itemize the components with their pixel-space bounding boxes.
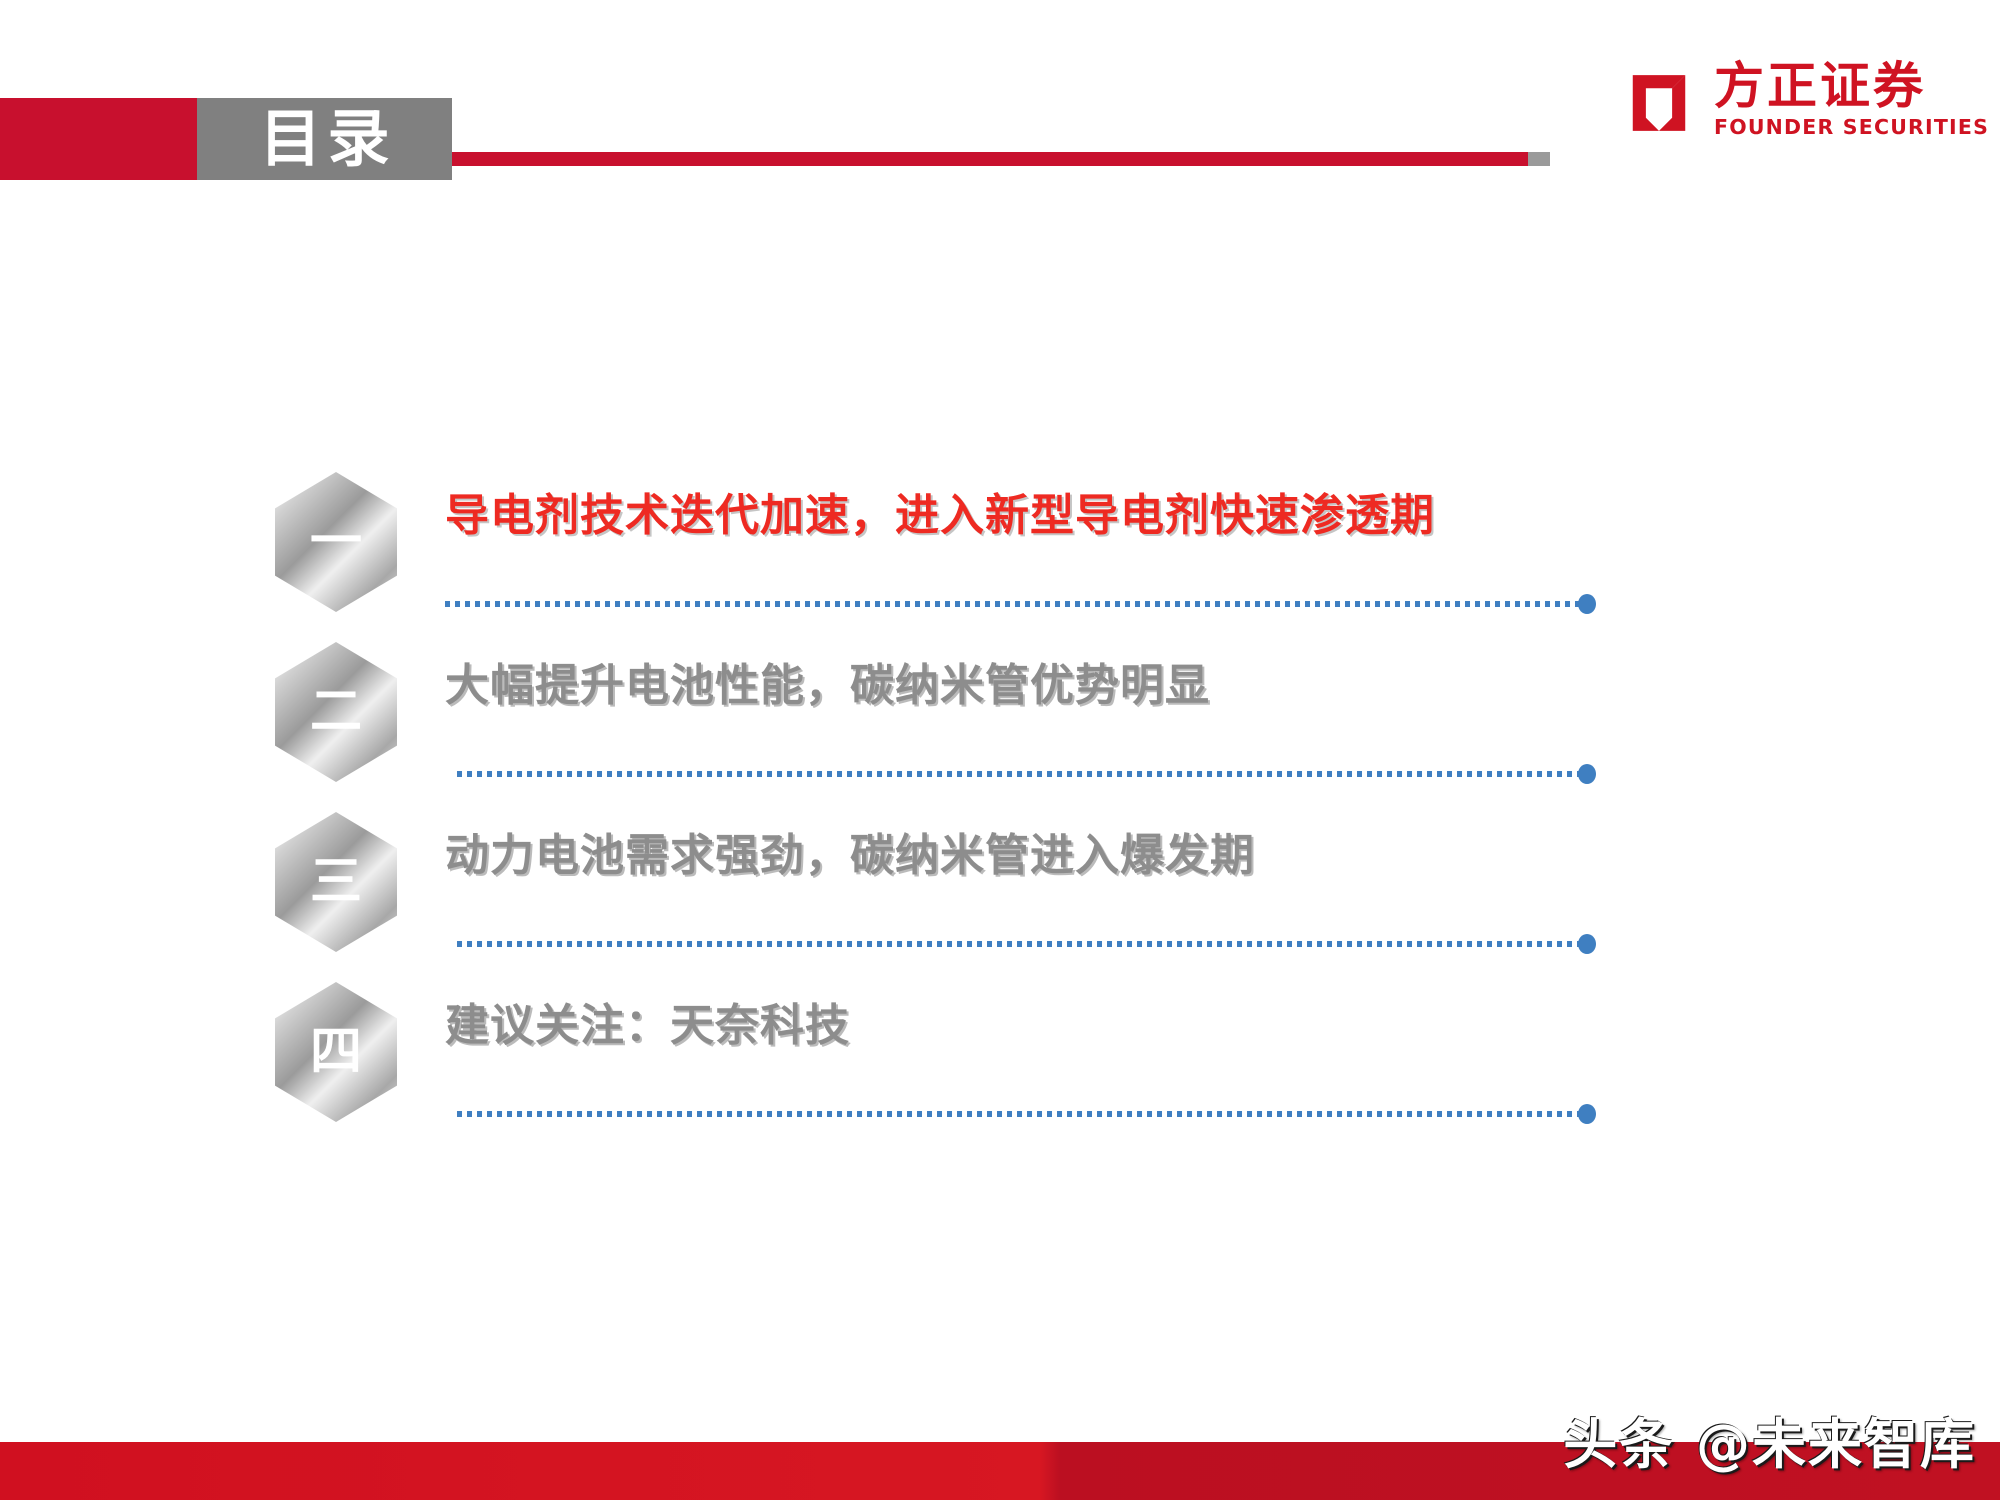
toc-connector-4 xyxy=(457,1110,1585,1118)
slide-root: 目录 方正证券 FOUNDER SECURITIES 一 导电剂技术迭代加速，进… xyxy=(0,0,2000,1500)
toc-number-badge-2: 二 xyxy=(275,642,397,782)
toc-item-1[interactable]: 一 导电剂技术迭代加速，进入新型导电剂快速渗透期 xyxy=(275,466,1705,636)
toc-item-label-3: 动力电池需求强劲，碳纳米管进入爆发期 xyxy=(445,830,1255,883)
toc-item-label-1: 导电剂技术迭代加速，进入新型导电剂快速渗透期 xyxy=(445,490,1435,543)
toc-connector-enddot-2 xyxy=(1578,764,1596,784)
toc-connector-1 xyxy=(445,600,1585,608)
toc-item-4[interactable]: 四 建议关注：天奈科技 xyxy=(275,976,1705,1146)
toc-item-label-4: 建议关注：天奈科技 xyxy=(445,1000,850,1053)
toc-number-label-4: 四 xyxy=(310,1026,362,1078)
toc-number-badge-1: 一 xyxy=(275,472,397,612)
toc-list: 一 导电剂技术迭代加速，进入新型导电剂快速渗透期 二 大幅提升电池性能，碳纳米管… xyxy=(0,0,2000,1500)
toc-number-label-1: 一 xyxy=(310,516,362,568)
toc-item-2[interactable]: 二 大幅提升电池性能，碳纳米管优势明显 xyxy=(275,636,1705,806)
toc-number-label-3: 三 xyxy=(310,856,362,908)
toc-connector-enddot-1 xyxy=(1578,594,1596,614)
toc-connector-enddot-3 xyxy=(1578,934,1596,954)
toc-number-label-2: 二 xyxy=(310,686,362,738)
toc-connector-enddot-4 xyxy=(1578,1104,1596,1124)
toc-connector-2 xyxy=(457,770,1585,778)
toc-number-badge-4: 四 xyxy=(275,982,397,1122)
toc-item-3[interactable]: 三 动力电池需求强劲，碳纳米管进入爆发期 xyxy=(275,806,1705,976)
toc-item-label-2: 大幅提升电池性能，碳纳米管优势明显 xyxy=(445,660,1210,713)
watermark: 头条 @未来智库 xyxy=(1563,1418,1976,1472)
toc-number-badge-3: 三 xyxy=(275,812,397,952)
toc-connector-3 xyxy=(457,940,1585,948)
